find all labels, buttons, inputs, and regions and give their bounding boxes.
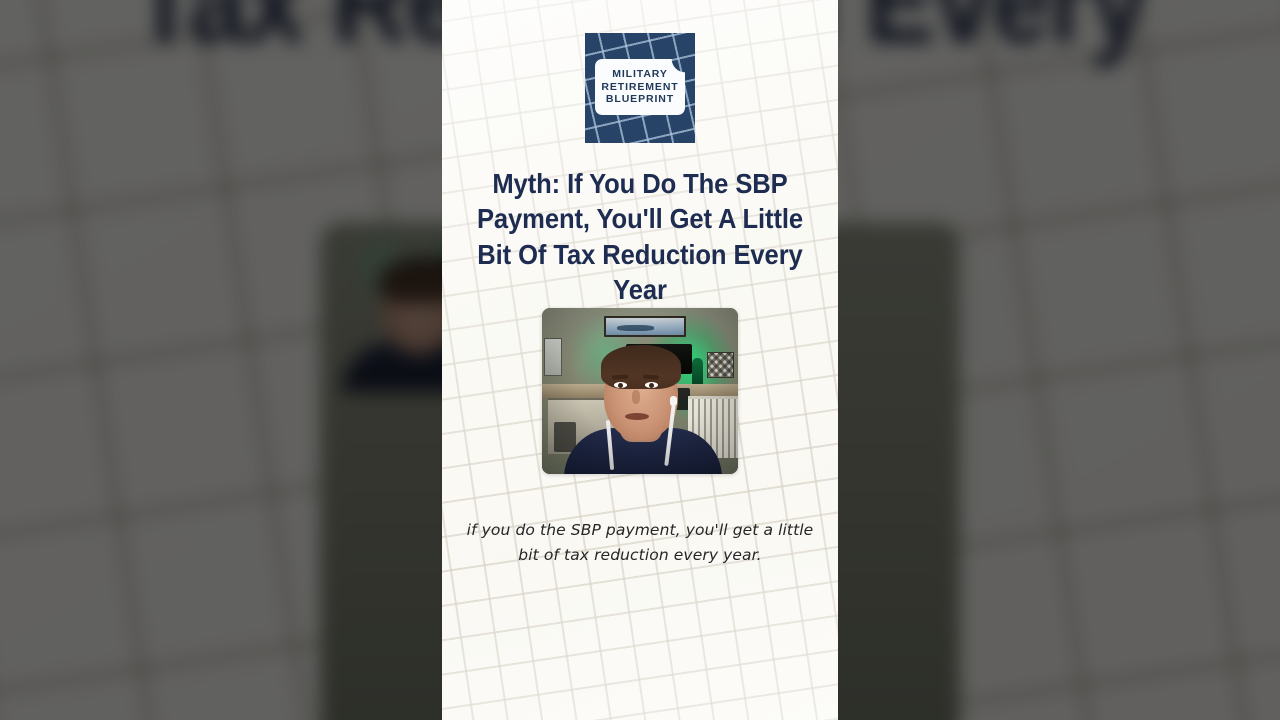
short-video-card[interactable]: MILITARY RETIREMENT BLUEPRINT Myth: If Y… [442,0,838,720]
video-caption: if you do the SBP payment, you'll get a … [460,518,820,568]
military-retirement-blueprint-logo[interactable]: MILITARY RETIREMENT BLUEPRINT [585,33,695,143]
logo-line-2: RETIREMENT [601,81,678,94]
logo-line-1: MILITARY [612,68,668,81]
video-title: Myth: If You Do The SBP Payment, You'll … [469,166,811,308]
logo-line-3: BLUEPRINT [606,93,674,106]
video-vignette [542,308,738,474]
shorts-player-stage: Myth: If You Do The SBP Payment, You'll … [0,0,1280,720]
speaker-webcam-thumbnail[interactable] [542,308,738,474]
logo-label-tag: MILITARY RETIREMENT BLUEPRINT [595,59,685,115]
